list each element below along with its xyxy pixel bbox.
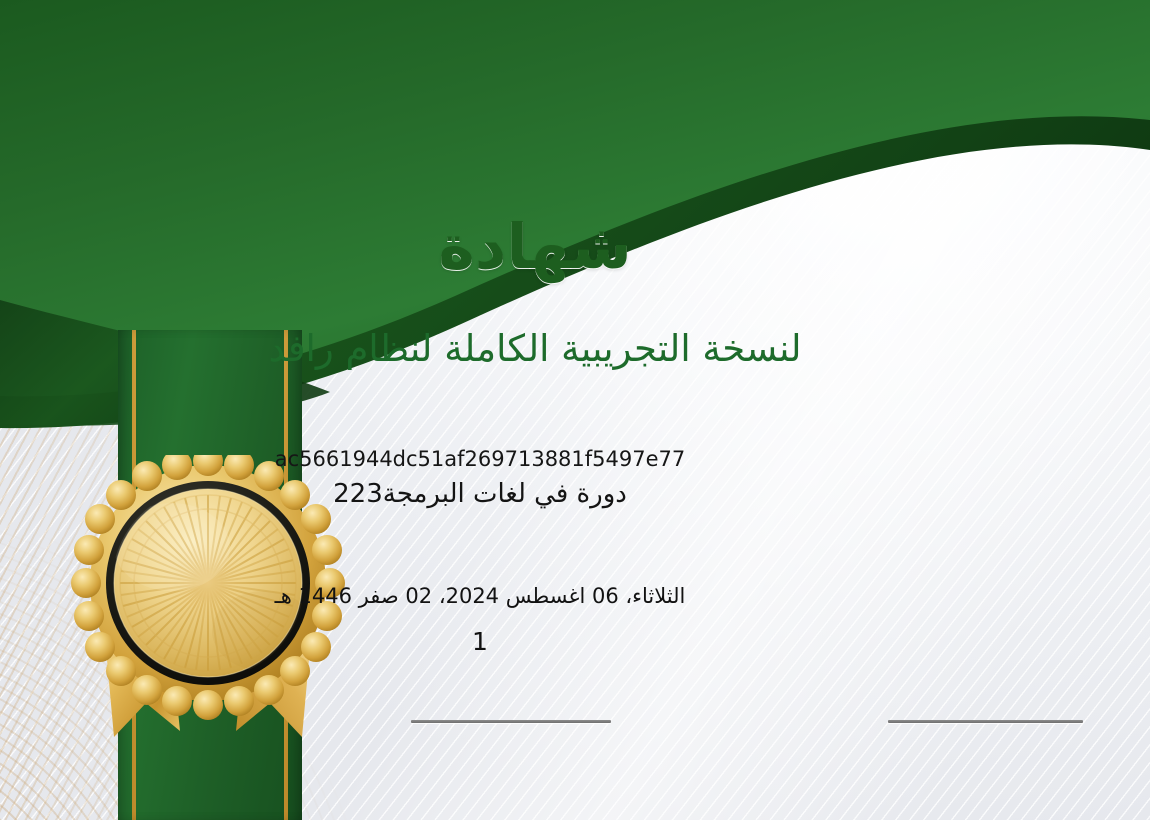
course-name-text: دورة في لغات البرمجة223 [333, 479, 627, 509]
certificate-title-text: شهادة [438, 210, 632, 283]
certificate-title: شهادة [0, 210, 1150, 283]
certificate-page: شهادة لنسخة التجريبية الكاملة لنظام رافد… [0, 0, 1150, 820]
signature-line-left [411, 720, 611, 723]
verification-hash-text: ac5661944dc51af269713881f5497e77 [275, 447, 686, 471]
sequence-number: 1 [0, 627, 1150, 656]
course-name: دورة في لغات البرمجة223 [0, 479, 1150, 509]
verification-hash: ac5661944dc51af269713881f5497e77 [0, 447, 1150, 471]
issue-date-text: الثلاثاء، 06 اغسطس 2024، 02 صفر 1446 هـ [275, 584, 686, 608]
certificate-subtitle: لنسخة التجريبية الكاملة لنظام رافد [0, 327, 1150, 370]
sequence-number-text: 1 [472, 627, 488, 656]
certificate-subtitle-text: لنسخة التجريبية الكاملة لنظام رافد [268, 327, 801, 370]
issue-date: الثلاثاء، 06 اغسطس 2024، 02 صفر 1446 هـ [0, 584, 1150, 608]
signature-line-right [888, 720, 1083, 723]
